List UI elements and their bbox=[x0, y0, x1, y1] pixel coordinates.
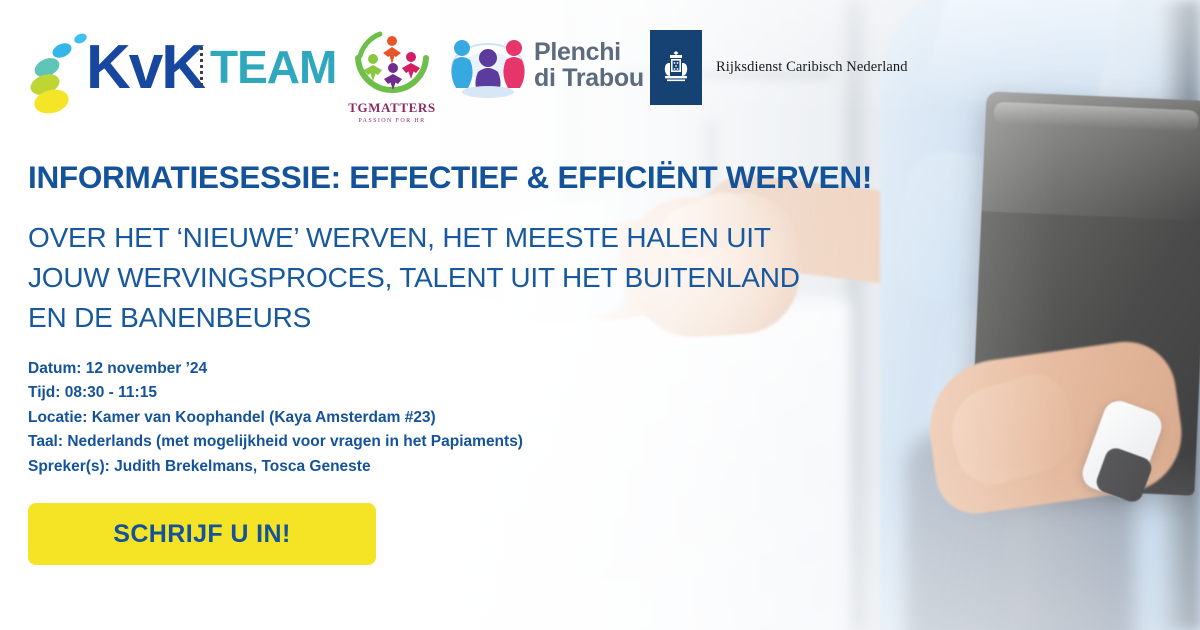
detail-time: Tijd: 08:30 - 11:15 bbox=[28, 381, 523, 405]
detail-location: Locatie: Kamer van Koophandel (Kaya Amst… bbox=[28, 406, 523, 430]
plenchi-line-2: di Trabou bbox=[534, 65, 644, 91]
plenchi-line-1: Plenchi bbox=[534, 39, 644, 65]
rijksdienst-caribisch-nederland-logo: Rijksdienst Caribisch Nederland bbox=[650, 30, 908, 105]
team-logo: TEAM bbox=[196, 44, 336, 90]
tgmatters-tagline: PASSION FOR HR bbox=[340, 118, 444, 124]
detail-date: Datum: 12 november ’24 bbox=[28, 357, 523, 381]
subtitle-line-2: JOUW WERVINGSPROCES, TALENT UIT HET BUIT… bbox=[28, 258, 928, 298]
team-mark-icon bbox=[196, 45, 208, 89]
subtitle: OVER HET ‘NIEUWE’ WERVEN, HET MEESTE HAL… bbox=[28, 218, 928, 337]
banner-content: KvK TEAM bbox=[0, 0, 1200, 630]
kvk-dots-icon bbox=[28, 30, 90, 106]
plenchi-di-trabou-logo: Plenchi di Trabou bbox=[450, 32, 644, 98]
detail-language: Taal: Nederlands (met mogelijkheid voor … bbox=[28, 430, 523, 454]
plenchi-logo-text: Plenchi di Trabou bbox=[534, 39, 644, 91]
subtitle-line-3: EN DE BANENBEURS bbox=[28, 298, 928, 338]
register-button[interactable]: SCHRIJF U IN! bbox=[28, 503, 376, 565]
kvk-logo: KvK bbox=[28, 30, 204, 106]
logo-strip: KvK TEAM bbox=[0, 0, 1200, 125]
dutch-coat-of-arms-icon bbox=[650, 30, 702, 105]
kvk-logo-text: KvK bbox=[86, 37, 204, 99]
page-title: INFORMATIESESSIE: EFFECTIEF & EFFICIËNT … bbox=[28, 160, 1028, 195]
subtitle-line-1: OVER HET ‘NIEUWE’ WERVEN, HET MEESTE HAL… bbox=[28, 218, 928, 258]
rcn-logo-text: Rijksdienst Caribisch Nederland bbox=[716, 59, 908, 76]
tgmatters-figures-icon bbox=[350, 81, 434, 98]
detail-speakers: Spreker(s): Judith Brekelmans, Tosca Gen… bbox=[28, 455, 523, 479]
team-logo-text: TEAM bbox=[210, 44, 336, 90]
plenchi-people-icon bbox=[450, 32, 526, 98]
event-details: Datum: 12 november ’24 Tijd: 08:30 - 11:… bbox=[28, 357, 523, 479]
tgmatters-logo-text: TGMATTERS bbox=[340, 100, 444, 116]
tgmatters-logo: TGMATTERS PASSION FOR HR bbox=[340, 28, 444, 124]
